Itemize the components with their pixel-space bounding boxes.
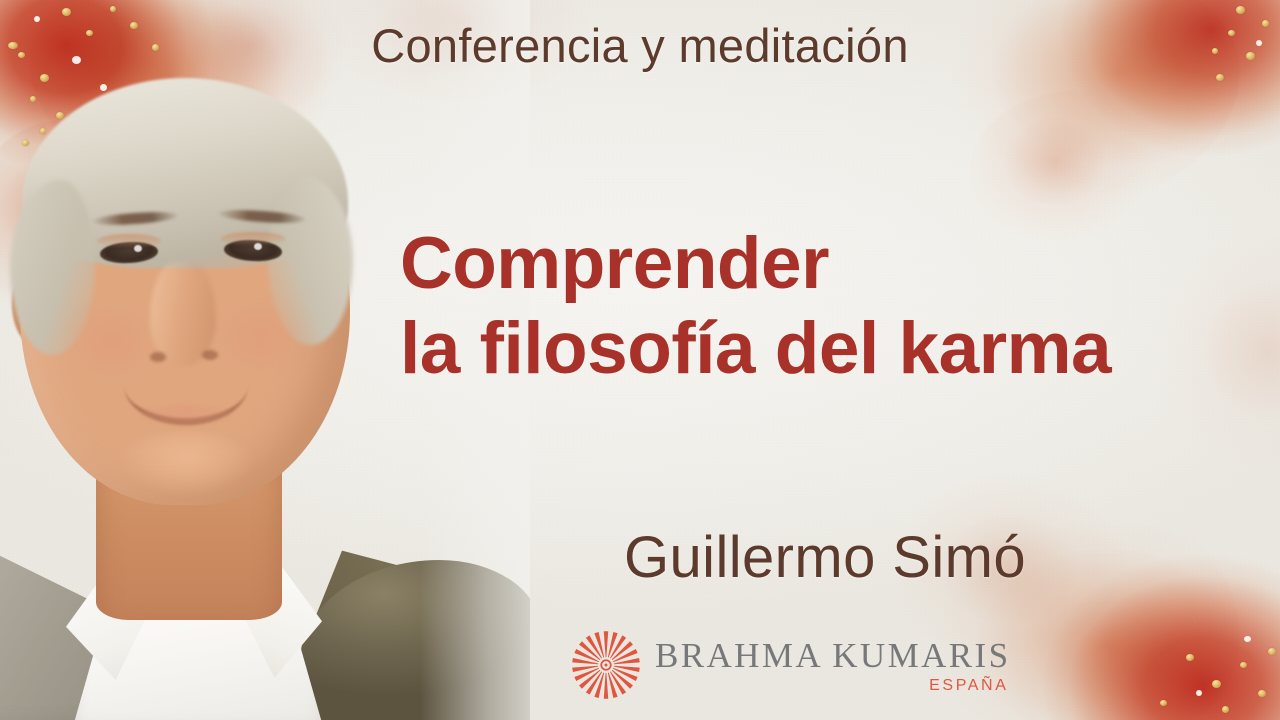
starburst-sun-icon [570, 629, 642, 701]
nostril-left [150, 352, 166, 362]
logo-name-text: BRAHMA KUMARIS [655, 638, 1010, 673]
eye-highlight-left [134, 245, 142, 252]
logo-wordmark: BRAHMA KUMARIS ESPAÑA [655, 636, 1010, 694]
slide-kicker: Conferencia y meditación [0, 18, 1280, 73]
nostril-right [202, 350, 218, 360]
page-title-line-2: la filosofía del karma [400, 307, 1266, 392]
presentation-slide: Conferencia y meditación Comprender la f… [0, 0, 1280, 720]
page-title-line-1: Comprender [400, 222, 1266, 307]
speaker-name: Guillermo Simó [400, 524, 1250, 591]
lower-lip [140, 404, 232, 426]
cheek-left [66, 300, 158, 382]
brahma-kumaris-logo: BRAHMA KUMARIS ESPAÑA [570, 624, 970, 706]
logo-subtitle-text: ESPAÑA [929, 678, 1008, 694]
eye-highlight-right [254, 243, 262, 250]
cheek-right [214, 296, 306, 378]
chin [118, 432, 254, 496]
eyelid-left [97, 234, 161, 248]
page-title: Comprender la filosofía del karma [400, 222, 1266, 391]
eyelid-right [221, 232, 285, 246]
